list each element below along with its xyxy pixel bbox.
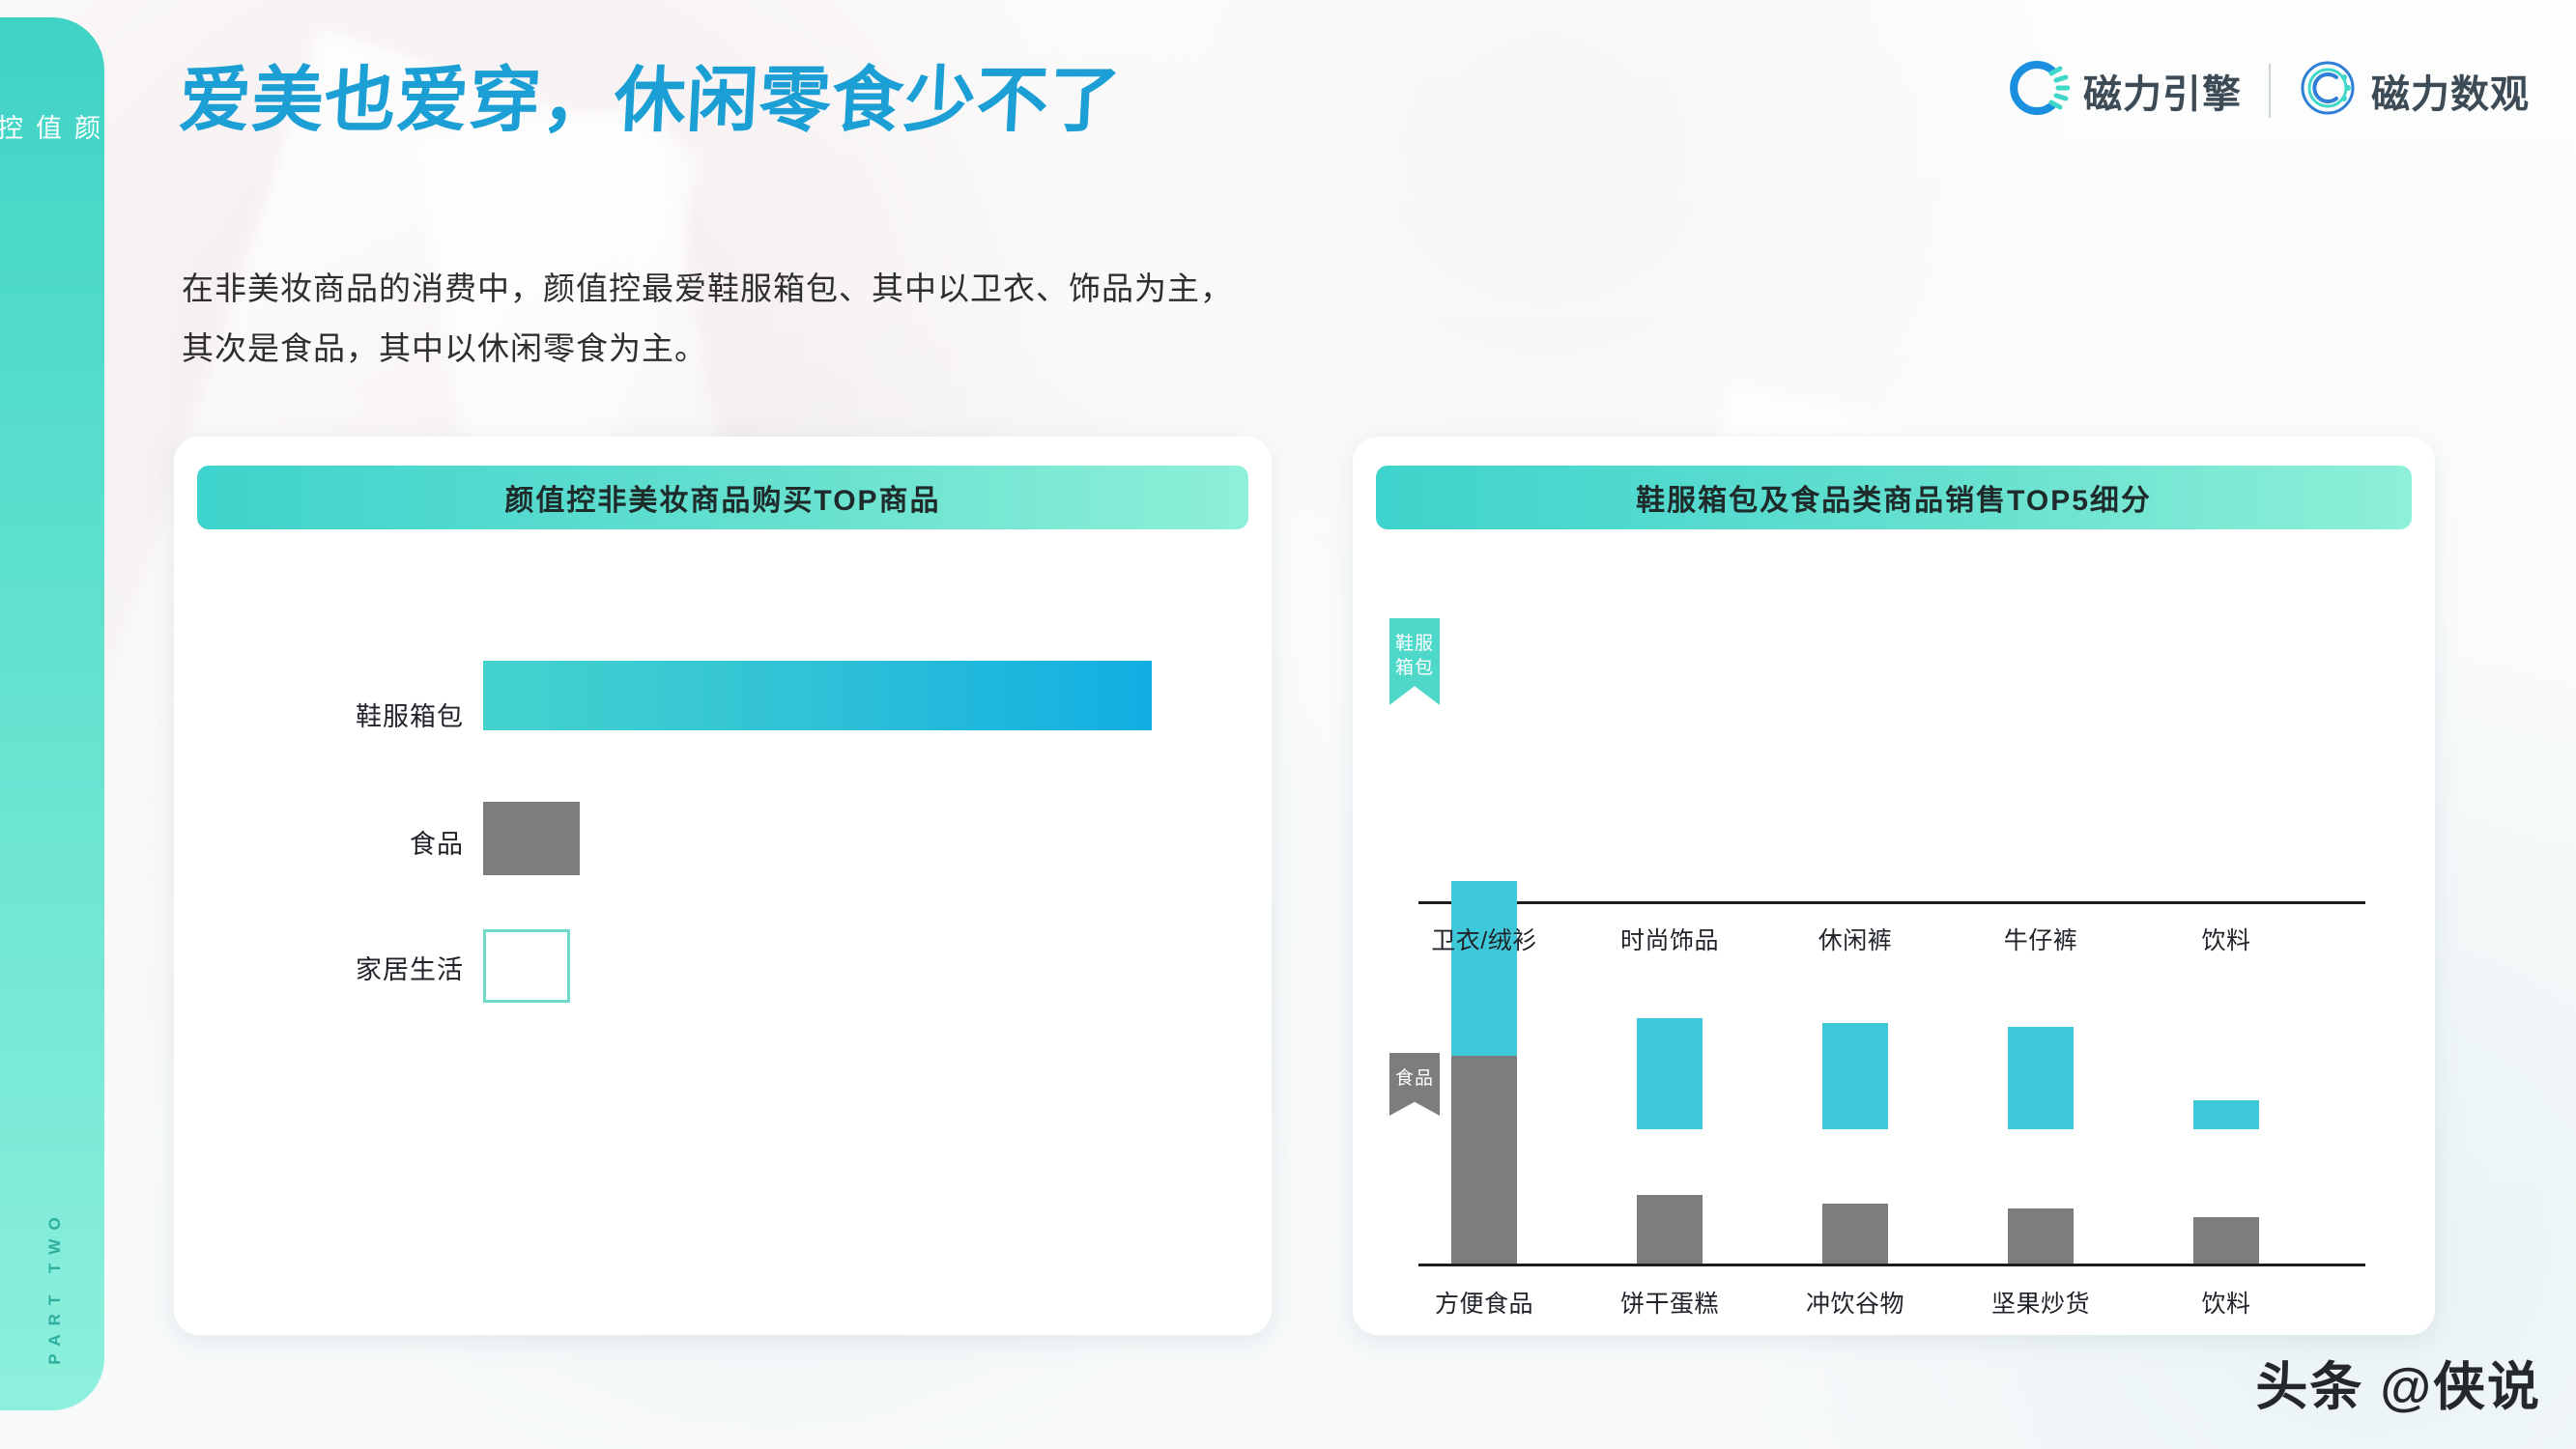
hbar-label-1: 食品 bbox=[174, 823, 464, 861]
magnetic-engine-logo-icon bbox=[2010, 58, 2070, 123]
vertical-bar-chart-food: 食品 方便食品 饼干蛋糕 冲饮谷物 坚果炒货 饮料 bbox=[1353, 1024, 2435, 1333]
badge-apparel: 鞋服箱包 bbox=[1389, 618, 1440, 705]
left-sidebar: 颜值控 PART TWO bbox=[0, 17, 104, 1410]
badge-food: 食品 bbox=[1389, 1053, 1440, 1116]
vlabel-apparel-4: 饮料 bbox=[2130, 922, 2323, 956]
sidebar-vertical-title: 颜值控 bbox=[0, 114, 104, 144]
vlabel-food-2: 冲饮谷物 bbox=[1759, 1285, 1952, 1320]
vertical-bar-chart-apparel: 鞋服箱包 卫衣/绒衫 时尚饰品 休闲裤 牛仔裤 饮料 bbox=[1353, 437, 2435, 881]
hbar-1 bbox=[483, 802, 580, 875]
hbar-2 bbox=[483, 929, 570, 1003]
vlabel-apparel-2: 休闲裤 bbox=[1759, 922, 1952, 956]
brand-bar: 磁力引擎 磁力数观 bbox=[2010, 58, 2530, 123]
badge-food-label: 食品 bbox=[1389, 1066, 1440, 1091]
badge-apparel-label: 鞋服箱包 bbox=[1389, 632, 1440, 680]
vlabel-food-4: 饮料 bbox=[2130, 1285, 2323, 1320]
vbar-food-3 bbox=[2008, 1208, 2074, 1264]
brand-magnetic-data: 磁力数观 bbox=[2298, 58, 2530, 123]
vlabel-apparel-1: 时尚饰品 bbox=[1573, 922, 1766, 956]
left-card-header: 颜值控非美妆商品购买TOP商品 bbox=[197, 466, 1248, 529]
axis-line-apparel bbox=[1418, 901, 2365, 904]
intro-line-2: 其次是食品，其中以休闲零食为主。 bbox=[182, 319, 1233, 379]
intro-paragraph: 在非美妆商品的消费中，颜值控最爱鞋服箱包、其中以卫衣、饰品为主， 其次是食品，其… bbox=[182, 259, 1233, 379]
axis-line-food bbox=[1418, 1264, 2365, 1266]
vlabel-apparel-3: 牛仔裤 bbox=[1944, 922, 2137, 956]
vbar-food-2 bbox=[1822, 1204, 1888, 1264]
brand-magnetic-engine: 磁力引擎 bbox=[2010, 58, 2242, 123]
right-chart-card: 鞋服箱包及食品类商品销售TOP5细分 鞋服箱包 卫衣/绒衫 时尚饰品 休闲裤 牛… bbox=[1353, 437, 2435, 1335]
vlabel-apparel-0: 卫衣/绒衫 bbox=[1388, 922, 1581, 956]
vbar-food-0 bbox=[1451, 1056, 1517, 1264]
vbar-food-4 bbox=[2193, 1217, 2259, 1264]
magnetic-data-logo-icon bbox=[2298, 58, 2358, 123]
vbar-food-1 bbox=[1637, 1195, 1703, 1264]
watermark: 头条 @侠说 bbox=[2255, 1344, 2541, 1420]
vlabel-food-0: 方便食品 bbox=[1388, 1285, 1581, 1320]
brand-divider bbox=[2269, 64, 2271, 118]
page-title: 爱美也爱穿，休闲零食少不了 bbox=[177, 43, 1125, 146]
hbar-label-0: 鞋服箱包 bbox=[174, 696, 464, 733]
hbar-label-2: 家居生活 bbox=[174, 949, 464, 986]
hbar-0 bbox=[483, 661, 1152, 730]
intro-line-1: 在非美妆商品的消费中，颜值控最爱鞋服箱包、其中以卫衣、饰品为主， bbox=[182, 259, 1233, 319]
brand-magnetic-engine-label: 磁力引擎 bbox=[2083, 63, 2242, 119]
vlabel-food-1: 饼干蛋糕 bbox=[1573, 1285, 1766, 1320]
brand-magnetic-data-label: 磁力数观 bbox=[2371, 63, 2530, 119]
vlabel-food-3: 坚果炒货 bbox=[1944, 1285, 2137, 1320]
left-chart-card: 颜值控非美妆商品购买TOP商品 鞋服箱包 食品 家居生活 bbox=[174, 437, 1272, 1335]
slide-root: 颜值控 PART TWO 爱美也爱穿，休闲零食少不了 磁力引擎 bbox=[0, 0, 2576, 1449]
sidebar-part-label: PART TWO bbox=[45, 1176, 65, 1398]
